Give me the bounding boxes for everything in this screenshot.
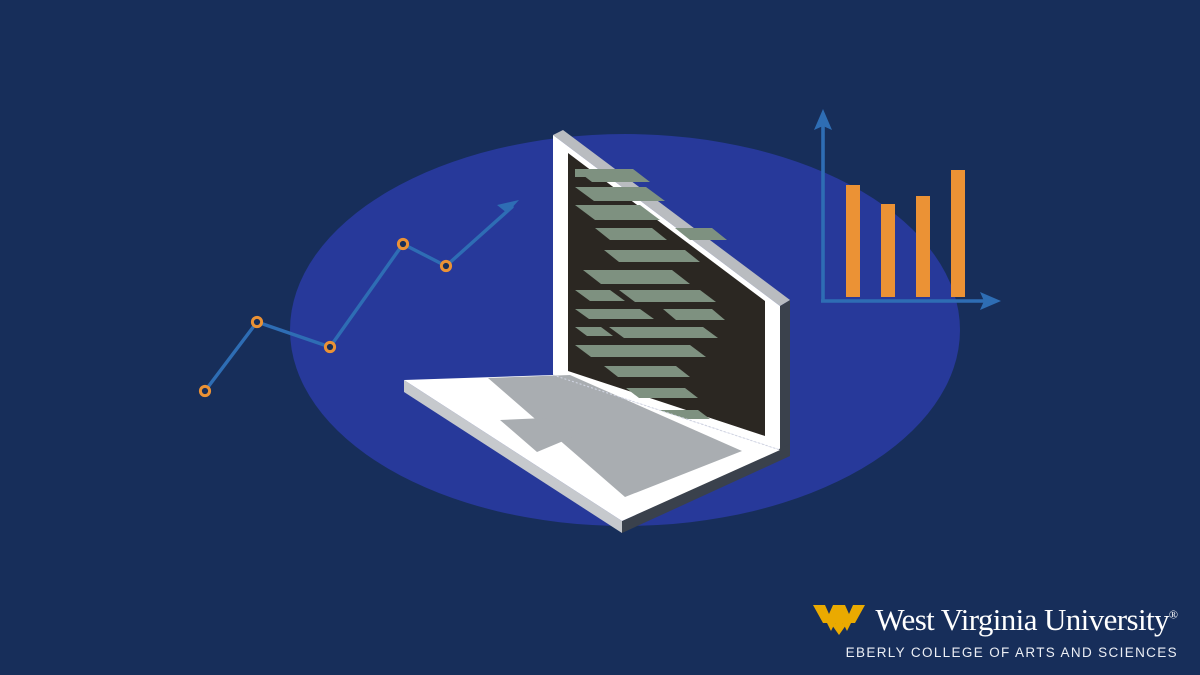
brand-name: West Virginia University®: [875, 604, 1178, 635]
brand-subtitle: EBERLY COLLEGE OF ARTS AND SCIENCES: [846, 646, 1178, 660]
registered-mark: ®: [1169, 608, 1178, 622]
brand-lockup: West Virginia University® EBERLY COLLEGE…: [812, 603, 1178, 660]
isometric-laptop: [0, 0, 1200, 675]
illustration-canvas: West Virginia University® EBERLY COLLEGE…: [0, 0, 1200, 675]
laptop-lid-edge: [780, 300, 790, 450]
flying-wv-icon: [812, 603, 866, 637]
brand-primary-row: West Virginia University®: [812, 603, 1178, 637]
